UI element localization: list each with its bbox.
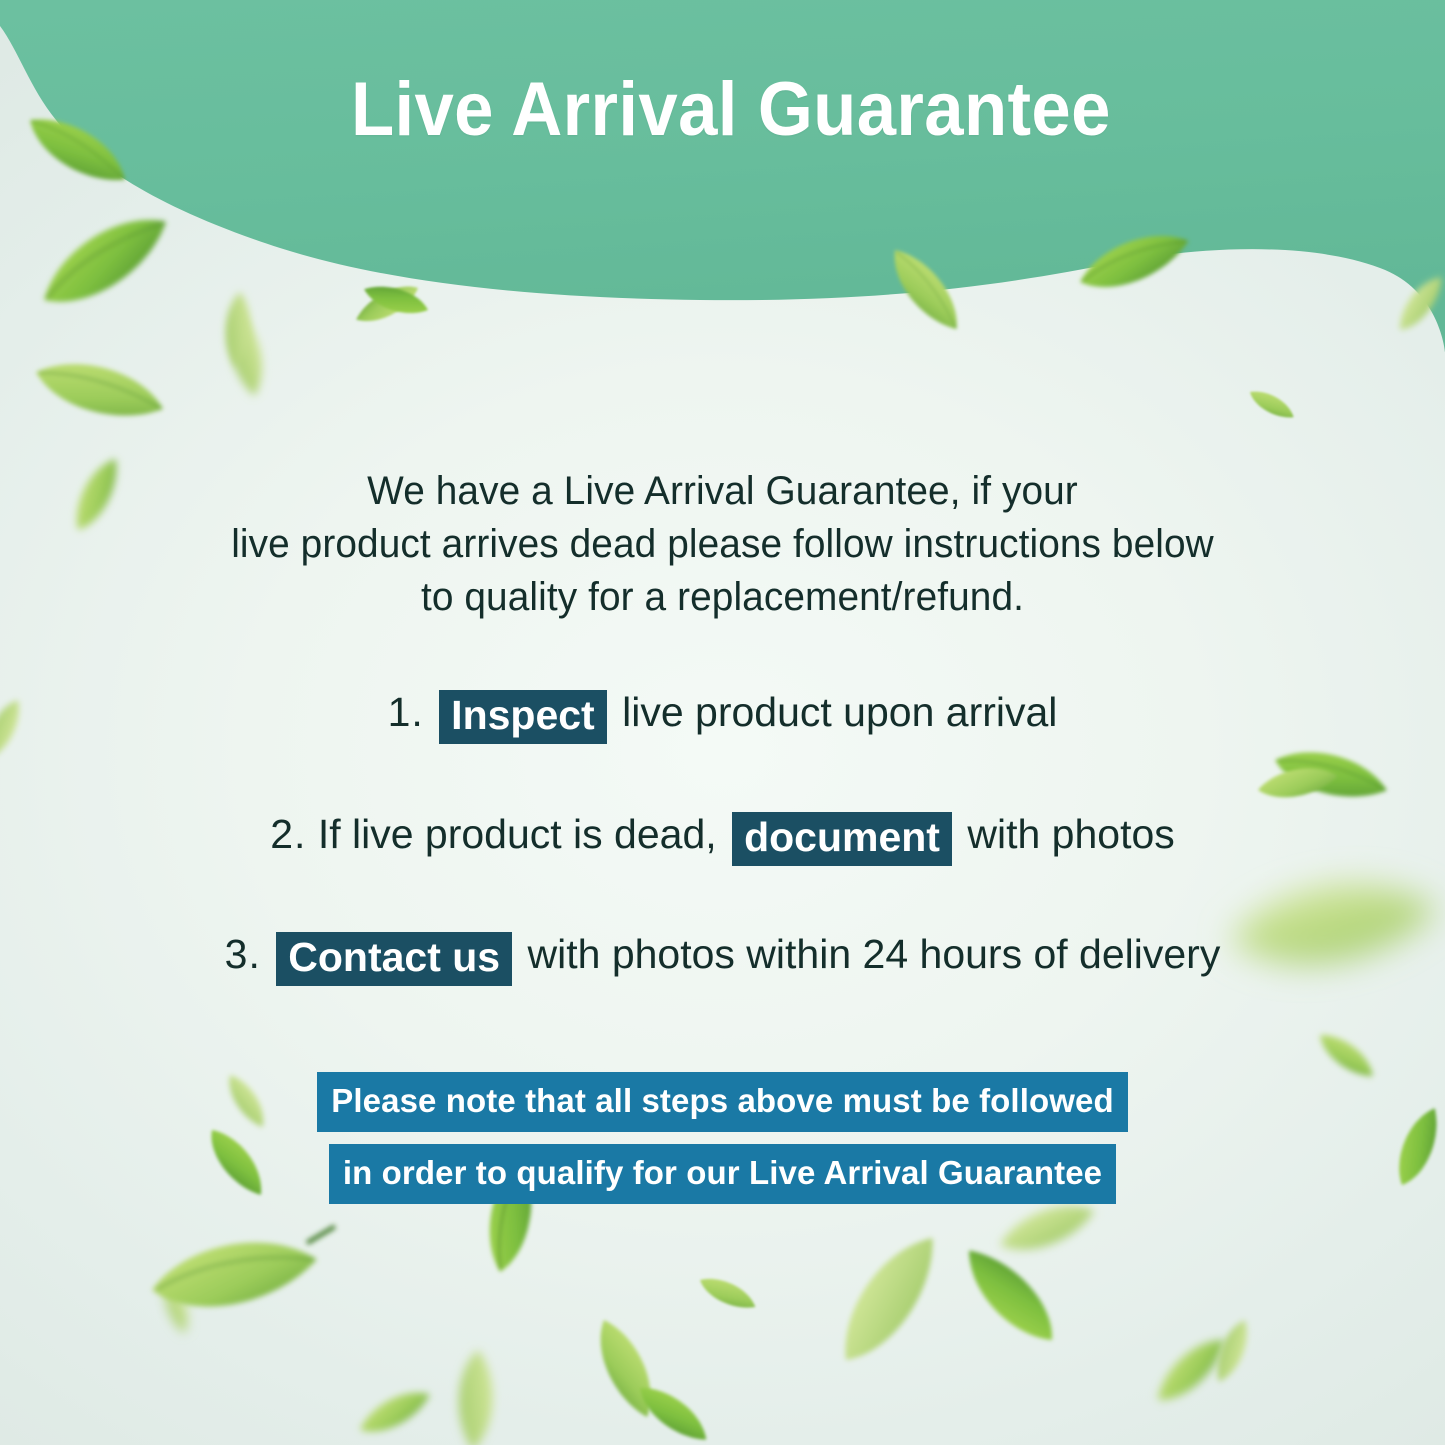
step-2-text-before: If live product is dead, [318, 811, 717, 857]
intro-line-2: live product arrives dead please follow … [22, 518, 1424, 571]
step-3-highlight[interactable]: Contact us [276, 932, 512, 986]
page-title: Live Arrival Guarantee [51, 66, 1395, 153]
note-spacer [0, 1132, 1445, 1144]
step-2-highlight[interactable]: document [732, 812, 952, 866]
step-2-number: 2. [270, 811, 306, 857]
step-1-text-after: live product upon arrival [622, 689, 1057, 735]
note-line-2: in order to qualify for our Live Arrival… [329, 1144, 1116, 1204]
intro-line-1: We have a Live Arrival Guarantee, if you… [22, 465, 1424, 518]
live-arrival-guarantee-poster: Live Arrival Guarantee [0, 0, 1445, 1445]
intro-line-3: to quality for a replacement/refund. [22, 571, 1424, 624]
step-2-text-after: with photos [967, 811, 1174, 857]
step-1-highlight[interactable]: Inspect [439, 690, 607, 744]
poster-content: We have a Live Arrival Guarantee, if you… [0, 0, 1445, 1445]
steps-list: 1. Inspect live product upon arrival 2. … [0, 684, 1445, 986]
step-item-2: 2. If live product is dead, document wit… [0, 806, 1445, 866]
note-line-1: Please note that all steps above must be… [317, 1072, 1127, 1132]
intro-paragraph: We have a Live Arrival Guarantee, if you… [22, 465, 1424, 624]
step-item-3: 3. Contact us with photos within 24 hour… [0, 926, 1445, 986]
disclaimer-note: Please note that all steps above must be… [0, 1072, 1445, 1204]
step-3-number: 3. [225, 931, 261, 977]
step-3-text-after: with photos within 24 hours of delivery [528, 931, 1221, 977]
step-1-number: 1. [388, 689, 424, 735]
step-item-1: 1. Inspect live product upon arrival [0, 684, 1445, 744]
